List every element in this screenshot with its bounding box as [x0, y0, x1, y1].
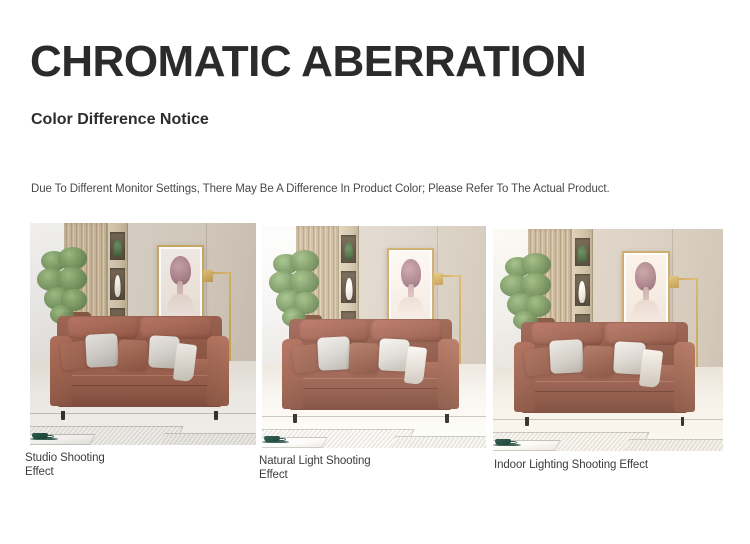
sofa-base	[289, 378, 452, 410]
throw-pillow-brown	[349, 342, 380, 373]
sofa-arm-right	[438, 339, 459, 409]
sofa-leg	[293, 414, 297, 423]
art-canvas	[161, 249, 200, 321]
sofa-base	[521, 381, 688, 413]
sofa-arm-right	[207, 336, 228, 406]
area-rug-right	[623, 439, 723, 451]
caption-line: Effect	[25, 465, 175, 479]
sofa-leg	[681, 417, 685, 426]
page-title: CHROMATIC ABERRATION	[30, 38, 586, 86]
green-mug	[32, 433, 48, 439]
floor-lamp-arm	[211, 272, 231, 274]
caption-studio-shooting-effect: Studio Shooting Effect	[25, 451, 175, 479]
caption-line: Indoor Lighting Shooting Effect	[494, 458, 704, 472]
leather-sofa	[50, 316, 229, 414]
caption-line: Natural Light Shooting	[259, 454, 419, 468]
living-room-scene	[493, 229, 723, 451]
shelf-cell	[110, 232, 125, 260]
caption-line: Effect	[259, 468, 419, 482]
shelf-cell	[341, 235, 356, 263]
green-mug-handle	[47, 435, 54, 438]
caption-indoor-lighting-shooting-effect: Indoor Lighting Shooting Effect	[494, 458, 704, 472]
green-mug	[264, 436, 280, 442]
area-rug-right	[158, 433, 256, 445]
living-room-scene	[262, 226, 486, 448]
leather-sofa	[282, 319, 459, 417]
product-image-studio	[30, 223, 256, 445]
floor-lamp-arm	[677, 278, 698, 280]
shelf-sculpture-decor	[579, 281, 586, 304]
floor-lamp-arm	[441, 275, 461, 277]
sofa-base-seam	[523, 391, 690, 392]
throw-pillow-grey	[85, 333, 119, 368]
throw-pillow-brown	[582, 345, 614, 376]
throw-pillow-grey	[317, 336, 351, 371]
throw-pillow-grey	[549, 339, 583, 374]
green-mug	[495, 439, 511, 445]
area-rug-right	[389, 436, 486, 448]
sofa-base	[57, 375, 221, 407]
art-canvas	[626, 255, 666, 327]
sofa-back-cushion	[140, 317, 212, 339]
leather-sofa	[514, 322, 696, 420]
sofa-base-seam	[59, 385, 223, 386]
living-room-scene	[30, 223, 256, 445]
caption-line: Studio Shooting	[25, 451, 175, 465]
shelf-cell	[575, 274, 590, 305]
shelf-cell	[110, 268, 125, 299]
framed-wall-art	[387, 248, 434, 328]
green-mug-handle	[510, 441, 517, 444]
color-difference-notice-text: Due To Different Monitor Settings, There…	[31, 182, 610, 197]
shelf-cell	[341, 271, 356, 302]
shelf-plant-decor	[578, 245, 587, 263]
throw-pillow-brown	[118, 339, 149, 370]
sofa-base-seam	[291, 388, 454, 389]
sofa-leg	[445, 414, 449, 423]
shelf-plant-decor	[113, 239, 122, 257]
product-image-natural-light	[262, 226, 486, 448]
sofa-leg	[214, 411, 218, 420]
sofa-arm-right	[674, 342, 696, 412]
page-subtitle: Color Difference Notice	[31, 110, 209, 130]
caption-natural-light-shooting-effect: Natural Light Shooting Effect	[259, 454, 419, 482]
art-canvas	[391, 252, 430, 324]
shelf-plant-decor	[345, 242, 354, 260]
product-image-indoor-lighting	[493, 229, 723, 451]
sofa-leg	[525, 417, 529, 426]
framed-wall-art	[622, 251, 670, 331]
shelf-sculpture-decor	[345, 278, 352, 301]
shelf-cell	[575, 238, 590, 266]
sofa-leg	[61, 411, 65, 420]
shelf-sculpture-decor	[114, 275, 121, 298]
framed-wall-art	[157, 245, 204, 325]
green-mug-handle	[279, 438, 286, 441]
